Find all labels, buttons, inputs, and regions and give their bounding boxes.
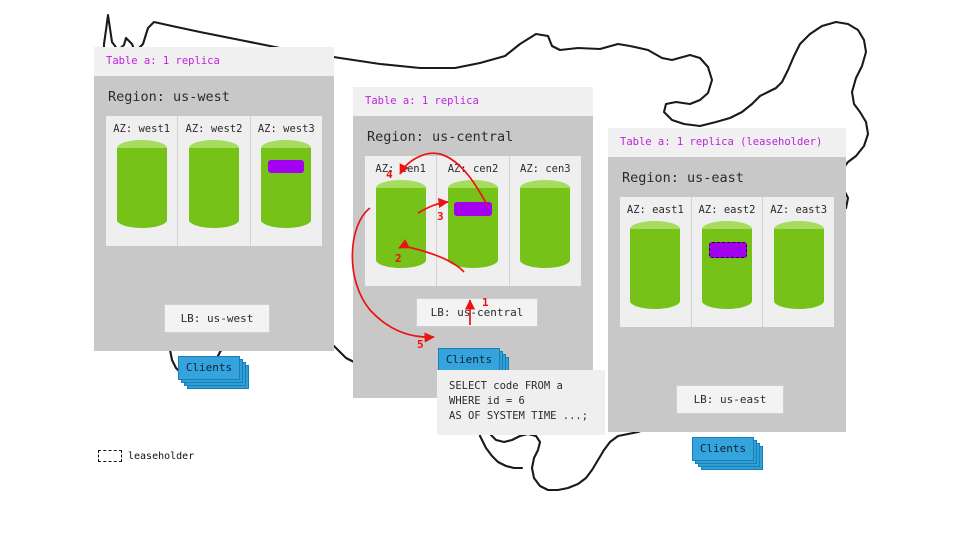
cylinder-east3[interactable]	[774, 221, 824, 309]
az-cell-west2[interactable]: AZ: west2	[178, 116, 250, 246]
cylinder-bottom-icon	[189, 212, 239, 228]
replica-block-west3[interactable]	[268, 160, 304, 173]
az-label-west1: AZ: west1	[106, 123, 177, 135]
cylinder-bottom-icon	[117, 212, 167, 228]
az-label-east2: AZ: east2	[692, 204, 763, 216]
legend-leaseholder: leaseholder	[98, 450, 194, 462]
cylinder-east2[interactable]	[702, 221, 752, 309]
clients-label-us-central[interactable]: Clients	[438, 348, 500, 372]
cylinder-body-icon	[520, 188, 570, 260]
cylinder-body-icon	[774, 229, 824, 301]
cylinder-body-icon	[189, 148, 239, 220]
dashed-rect-icon	[98, 450, 122, 462]
az-label-cen1: AZ: cen1	[365, 163, 436, 175]
cylinder-bottom-icon	[774, 293, 824, 309]
cylinder-bottom-icon	[448, 252, 498, 268]
clients-stack-us-west[interactable]: Clients	[178, 356, 250, 390]
az-cell-west3[interactable]: AZ: west3	[251, 116, 322, 246]
az-label-cen2: AZ: cen2	[437, 163, 508, 175]
flow-label-5: 5	[417, 338, 424, 351]
lb-box-us-west[interactable]: LB: us-west	[164, 304, 270, 333]
az-label-east3: AZ: east3	[763, 204, 834, 216]
replica-block-cen2[interactable]	[454, 202, 492, 216]
region-panel-us-east: Table a: 1 replica (leaseholder) Region:…	[608, 128, 846, 432]
cylinder-cen2[interactable]	[448, 180, 498, 268]
az-row-us-east: AZ: east1 AZ: east2	[620, 197, 834, 327]
cylinder-bottom-icon	[702, 293, 752, 309]
cylinder-west1[interactable]	[117, 140, 167, 228]
cylinder-bottom-icon	[520, 252, 570, 268]
az-row-us-central: AZ: cen1 AZ: cen2	[365, 156, 581, 286]
legend-label: leaseholder	[128, 451, 194, 462]
cylinder-body-icon	[261, 148, 311, 220]
cylinder-body-icon	[448, 188, 498, 260]
flow-label-3: 3	[437, 210, 444, 223]
az-cell-cen1[interactable]: AZ: cen1	[365, 156, 437, 286]
lb-box-us-east[interactable]: LB: us-east	[676, 385, 784, 414]
diagram-canvas: Table a: 1 replica Region: us-west AZ: w…	[0, 0, 960, 540]
region-title-us-west: Region: us-west	[94, 76, 334, 116]
replica-block-east2-leaseholder[interactable]	[709, 242, 747, 258]
az-label-cen3: AZ: cen3	[510, 163, 581, 175]
cylinder-west3[interactable]	[261, 140, 311, 228]
az-label-west2: AZ: west2	[178, 123, 249, 135]
cylinder-body-icon	[376, 188, 426, 260]
cylinder-cen3[interactable]	[520, 180, 570, 268]
az-cell-east3[interactable]: AZ: east3	[763, 197, 834, 327]
cylinder-bottom-icon	[630, 293, 680, 309]
flow-label-2: 2	[395, 252, 402, 265]
region-title-us-east: Region: us-east	[608, 157, 846, 197]
az-label-east1: AZ: east1	[620, 204, 691, 216]
cylinder-east1[interactable]	[630, 221, 680, 309]
az-cell-west1[interactable]: AZ: west1	[106, 116, 178, 246]
flow-label-4: 4	[386, 168, 393, 181]
az-row-us-west: AZ: west1 AZ: west2 AZ	[106, 116, 322, 246]
clients-label-us-east[interactable]: Clients	[692, 437, 754, 461]
cylinder-body-icon	[702, 229, 752, 301]
panel-header-us-east: Table a: 1 replica (leaseholder)	[608, 128, 846, 157]
clients-stack-us-east[interactable]: Clients	[692, 437, 764, 471]
cylinder-body-icon	[117, 148, 167, 220]
az-label-west3: AZ: west3	[251, 123, 322, 135]
clients-label-us-west[interactable]: Clients	[178, 356, 240, 380]
region-panel-us-central: Table a: 1 replica Region: us-central AZ…	[353, 87, 593, 398]
flow-label-1: 1	[482, 296, 489, 309]
az-cell-east2[interactable]: AZ: east2	[692, 197, 764, 327]
cylinder-bottom-icon	[261, 212, 311, 228]
sql-query-box: SELECT code FROM a WHERE id = 6 AS OF SY…	[437, 370, 605, 435]
lb-box-us-central[interactable]: LB: us-central	[416, 298, 538, 327]
cylinder-west2[interactable]	[189, 140, 239, 228]
panel-header-us-west: Table a: 1 replica	[94, 47, 334, 76]
region-title-us-central: Region: us-central	[353, 116, 593, 156]
az-cell-east1[interactable]: AZ: east1	[620, 197, 692, 327]
cylinder-body-icon	[630, 229, 680, 301]
az-cell-cen3[interactable]: AZ: cen3	[510, 156, 581, 286]
az-cell-cen2[interactable]: AZ: cen2	[437, 156, 509, 286]
panel-header-us-central: Table a: 1 replica	[353, 87, 593, 116]
region-panel-us-west: Table a: 1 replica Region: us-west AZ: w…	[94, 47, 334, 351]
